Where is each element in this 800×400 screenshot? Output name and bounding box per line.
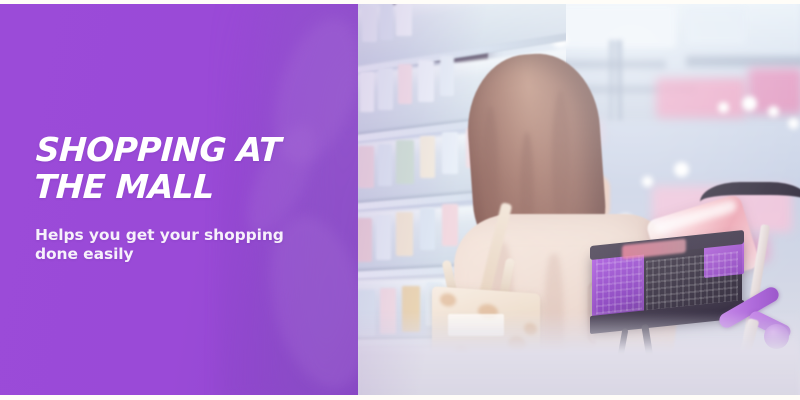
shelf-product <box>420 208 435 250</box>
shelf-product <box>396 0 412 36</box>
shelf-product <box>360 72 374 112</box>
shelf-product <box>358 146 374 188</box>
shelf-product <box>420 136 435 178</box>
shelf-product <box>396 212 413 256</box>
bokeh-light <box>788 118 799 129</box>
bokeh-light <box>768 106 779 117</box>
shelf-product <box>362 6 377 42</box>
shelf-product <box>398 64 412 104</box>
shelf-product <box>378 144 392 186</box>
bag-floral-motif <box>440 293 456 307</box>
shelf-product <box>376 216 391 260</box>
ceiling-beam <box>686 56 800 67</box>
trolley-handlebar <box>700 182 800 202</box>
hair-strand <box>552 90 570 230</box>
banner-copy: Shopping at the mall Helps you get your … <box>35 132 335 265</box>
purple-text-panel: Shopping at the mall Helps you get your … <box>0 0 358 400</box>
ceiling-banner-sign <box>686 8 746 44</box>
bokeh-light <box>718 102 729 113</box>
shelf-product <box>396 140 414 184</box>
banner-headline: Shopping at the mall <box>33 132 337 206</box>
banner-subheadline: Helps you get your shopping done easily <box>35 226 327 265</box>
shelf-product <box>418 60 434 102</box>
banner-photo <box>356 0 800 400</box>
bokeh-light <box>742 96 757 111</box>
promo-banner: Shopping at the mall Helps you get your … <box>0 0 800 400</box>
shelf-product <box>380 2 393 40</box>
shelf-product <box>356 218 372 262</box>
shelf-product <box>378 68 393 110</box>
crate-mesh <box>596 252 642 315</box>
store-floor <box>356 312 800 400</box>
